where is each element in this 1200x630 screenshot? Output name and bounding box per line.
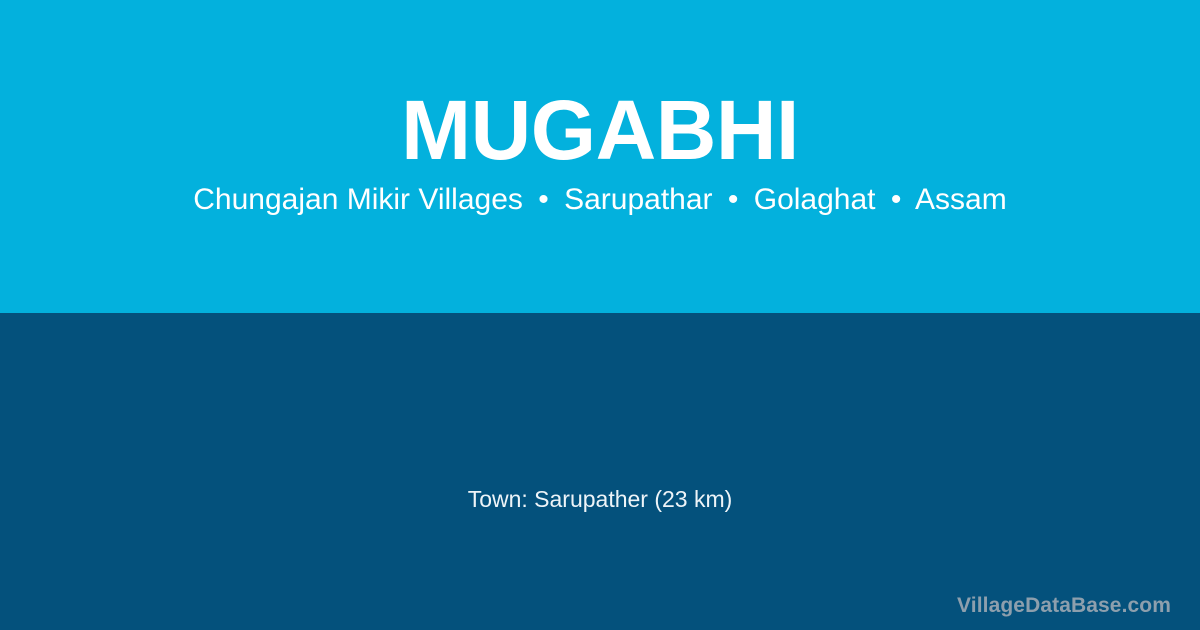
- detail-band: Town: Sarupather (23 km) VillageDataBase…: [0, 313, 1200, 630]
- nearest-town-info: Town: Sarupather (23 km): [0, 485, 1200, 515]
- breadcrumb-item-block: Sarupathar: [564, 183, 712, 216]
- page-title: MUGABHI: [0, 88, 1200, 172]
- village-info-card: MUGABHI Chungajan Mikir Villages • Sarup…: [0, 0, 1200, 630]
- breadcrumb-separator: •: [721, 181, 746, 219]
- header-band: MUGABHI Chungajan Mikir Villages • Sarup…: [0, 0, 1200, 313]
- breadcrumb-item-state: Assam: [915, 183, 1007, 216]
- breadcrumb-separator: •: [531, 181, 556, 219]
- breadcrumb-separator: •: [884, 181, 909, 219]
- breadcrumb: Chungajan Mikir Villages • Sarupathar • …: [0, 181, 1200, 219]
- breadcrumb-item-village: Chungajan Mikir Villages: [193, 183, 523, 216]
- site-watermark: VillageDataBase.com: [957, 593, 1171, 618]
- breadcrumb-item-district: Golaghat: [754, 183, 876, 216]
